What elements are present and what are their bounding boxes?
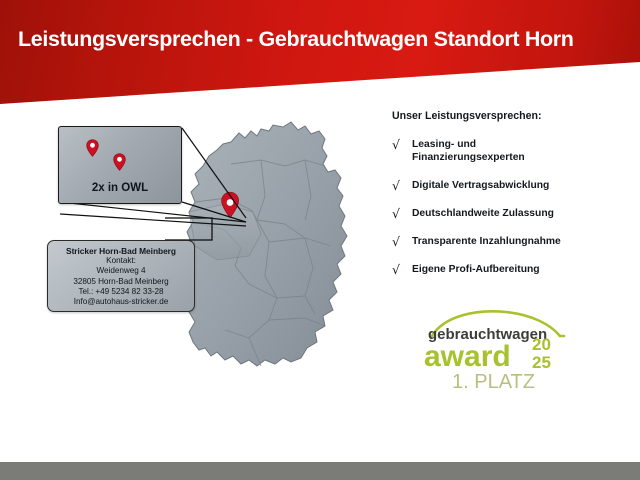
- promise-item: √ Transparente Inzahlungnahme: [392, 235, 636, 248]
- address-name: Stricker Horn-Bad Meinberg: [48, 246, 194, 256]
- award-year-bottom: 25: [532, 353, 551, 372]
- promise-item: √ Deutschlandweite Zulassung: [392, 207, 636, 220]
- owl-inset-box: 2x in OWL: [58, 126, 182, 204]
- owl-inset-label: 2x in OWL: [59, 182, 181, 194]
- bottom-grey-bar: [0, 462, 640, 480]
- promise-item-label: Digitale Vertragsabwicklung: [412, 179, 549, 192]
- header-background: [0, 0, 640, 108]
- address-box: Stricker Horn-Bad Meinberg Kontakt: Weid…: [47, 240, 195, 312]
- promise-item-label: Leasing- undFinanzierungsexperten: [412, 138, 525, 165]
- award-rank: 1. PLATZ: [452, 371, 535, 393]
- award-badge-svg: gebrauchtwagen award 20 25 1. PLATZ: [414, 306, 574, 394]
- address-city: 32805 Horn-Bad Meinberg: [48, 277, 194, 287]
- promise-item: √ Digitale Vertragsabwicklung: [392, 179, 636, 192]
- page-title: Leistungsversprechen - Gebrauchtwagen St…: [18, 27, 630, 52]
- address-contact-label: Kontakt:: [48, 256, 194, 266]
- award-year-top: 20: [532, 335, 551, 354]
- promise-list: Unser Leistungsversprechen: √ Leasing- u…: [392, 110, 636, 291]
- header-banner: Leistungsversprechen - Gebrauchtwagen St…: [0, 0, 640, 108]
- check-icon: √: [392, 207, 412, 220]
- address-phone: Tel.: +49 5234 82 33-28: [48, 287, 194, 297]
- promise-item: √ Eigene Profi-Aufbereitung: [392, 263, 636, 276]
- footer-logo-bar: Horn Nutzfahrzeuge Service SKODA Service: [0, 404, 640, 462]
- promise-title: Unser Leistungsversprechen:: [392, 110, 636, 122]
- germany-map-svg: [165, 100, 380, 405]
- slide-canvas: Leistungsversprechen - Gebrauchtwagen St…: [0, 0, 640, 480]
- map-pin-icon: [86, 139, 99, 157]
- promise-item: √ Leasing- undFinanzierungsexperten: [392, 138, 636, 165]
- check-icon: √: [392, 138, 412, 151]
- promise-item-label: Deutschlandweite Zulassung: [412, 207, 554, 220]
- promise-item-label: Transparente Inzahlungnahme: [412, 235, 561, 248]
- award-badge: gebrauchtwagen award 20 25 1. PLATZ: [414, 306, 574, 394]
- promise-item-label: Eigene Profi-Aufbereitung: [412, 263, 540, 276]
- address-street: Weidenweg 4: [48, 266, 194, 276]
- check-icon: √: [392, 235, 412, 248]
- check-icon: √: [392, 179, 412, 192]
- map-pin-icon: [113, 153, 126, 171]
- award-word: award: [424, 340, 511, 373]
- check-icon: √: [392, 263, 412, 276]
- germany-map: [165, 100, 380, 405]
- address-email[interactable]: Info@autohaus-stricker.de: [48, 297, 194, 307]
